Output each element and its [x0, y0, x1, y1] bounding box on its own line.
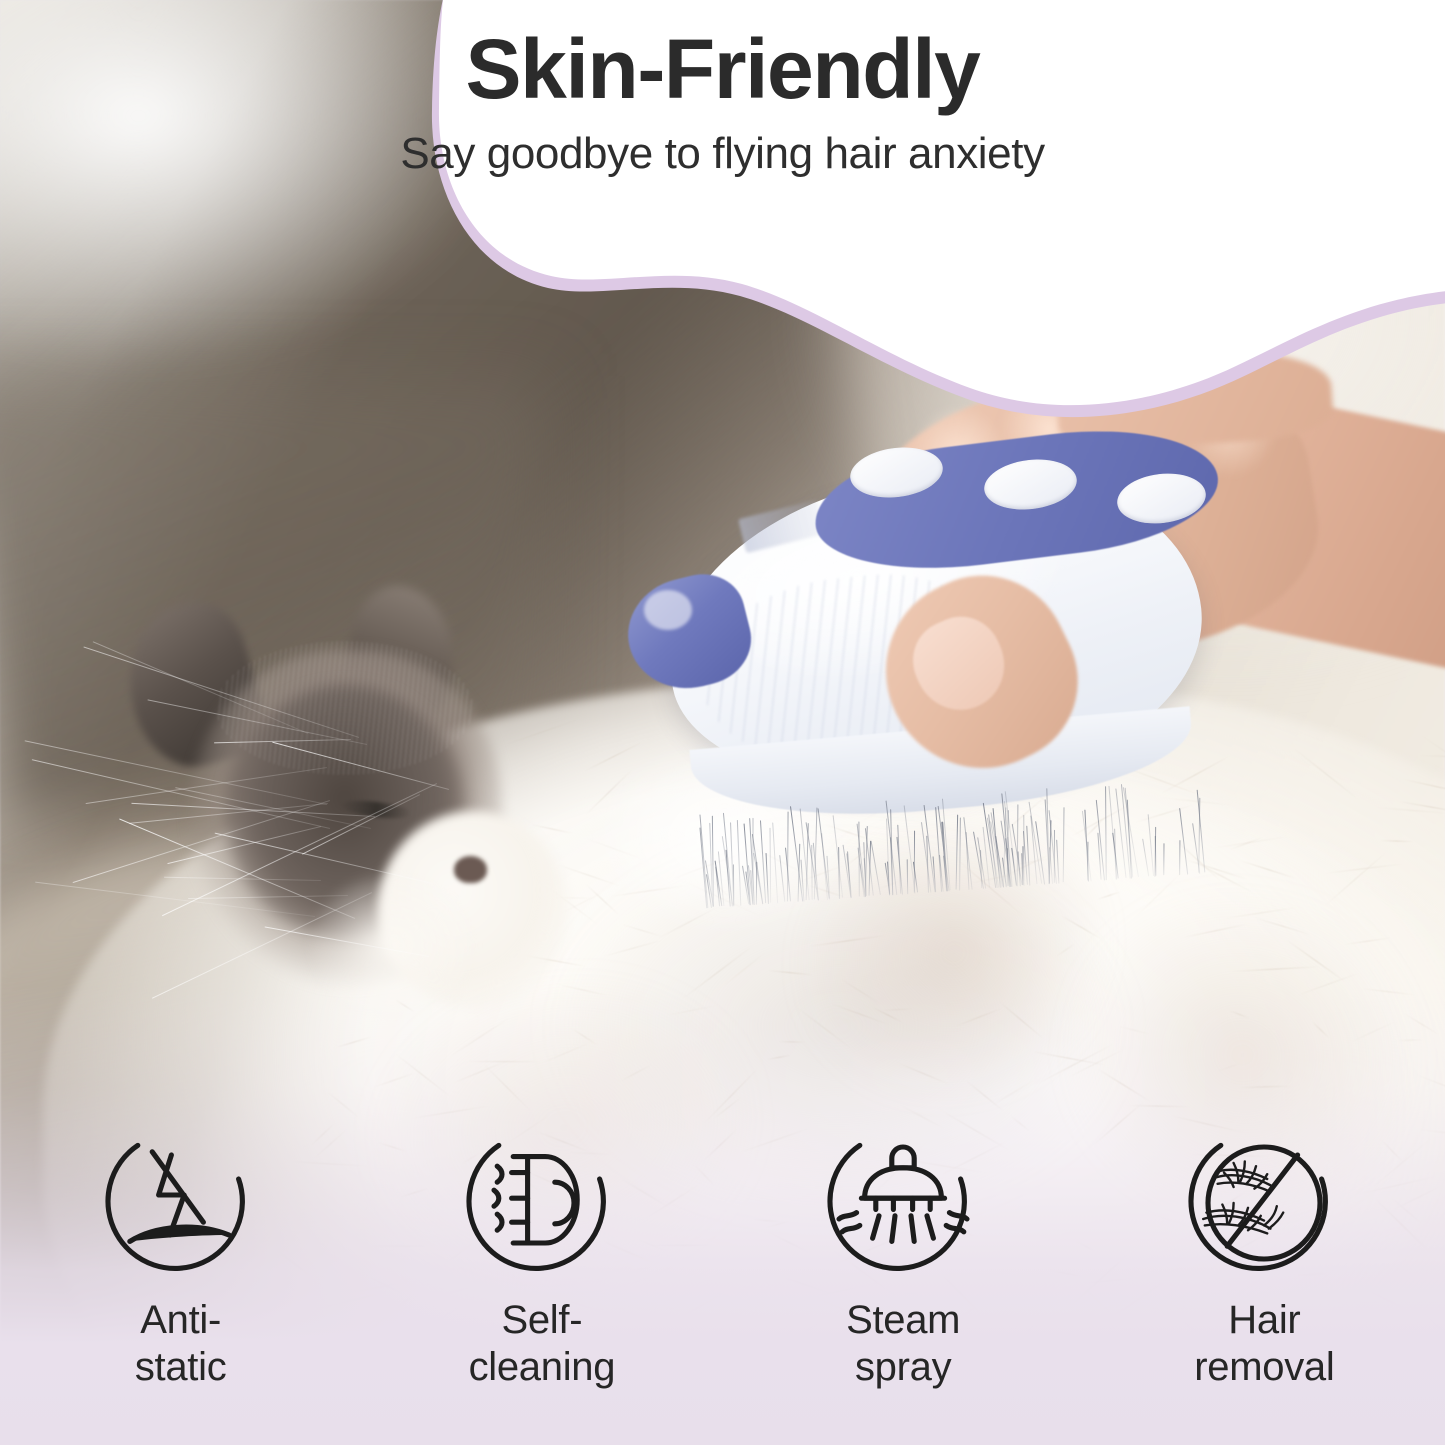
feature-label: Steam spray [846, 1297, 960, 1391]
feature-hair-removal[interactable]: Hair removal [1084, 1115, 1445, 1445]
self-cleaning-brush-icon [462, 1123, 622, 1283]
feature-anti-static[interactable]: Anti- static [0, 1115, 361, 1445]
page-subtitle: Say goodbye to flying hair anxiety [400, 129, 1044, 179]
hand-holding-brush [636, 347, 1445, 925]
no-hair-icon [1184, 1123, 1344, 1283]
page-title: Skin-Friendly [466, 26, 980, 113]
product-marketing-image: Skin-Friendly Say goodbye to flying hair… [0, 0, 1445, 1445]
feature-label: Anti- static [135, 1297, 227, 1391]
cat-head [101, 578, 578, 1026]
anti-static-icon [101, 1123, 261, 1283]
cat-whiskers [101, 578, 578, 1026]
steam-spray-icon [823, 1123, 983, 1283]
feature-row: Anti- static Self- cleaning [0, 1115, 1445, 1445]
feature-label: Hair removal [1194, 1297, 1334, 1391]
feature-label: Self- cleaning [469, 1297, 616, 1391]
headline-block: Skin-Friendly Say goodbye to flying hair… [0, 0, 1445, 230]
feature-self-cleaning[interactable]: Self- cleaning [361, 1115, 722, 1445]
steam-nozzle-highlight [644, 590, 693, 630]
feature-steam-spray[interactable]: Steam spray [723, 1115, 1084, 1445]
